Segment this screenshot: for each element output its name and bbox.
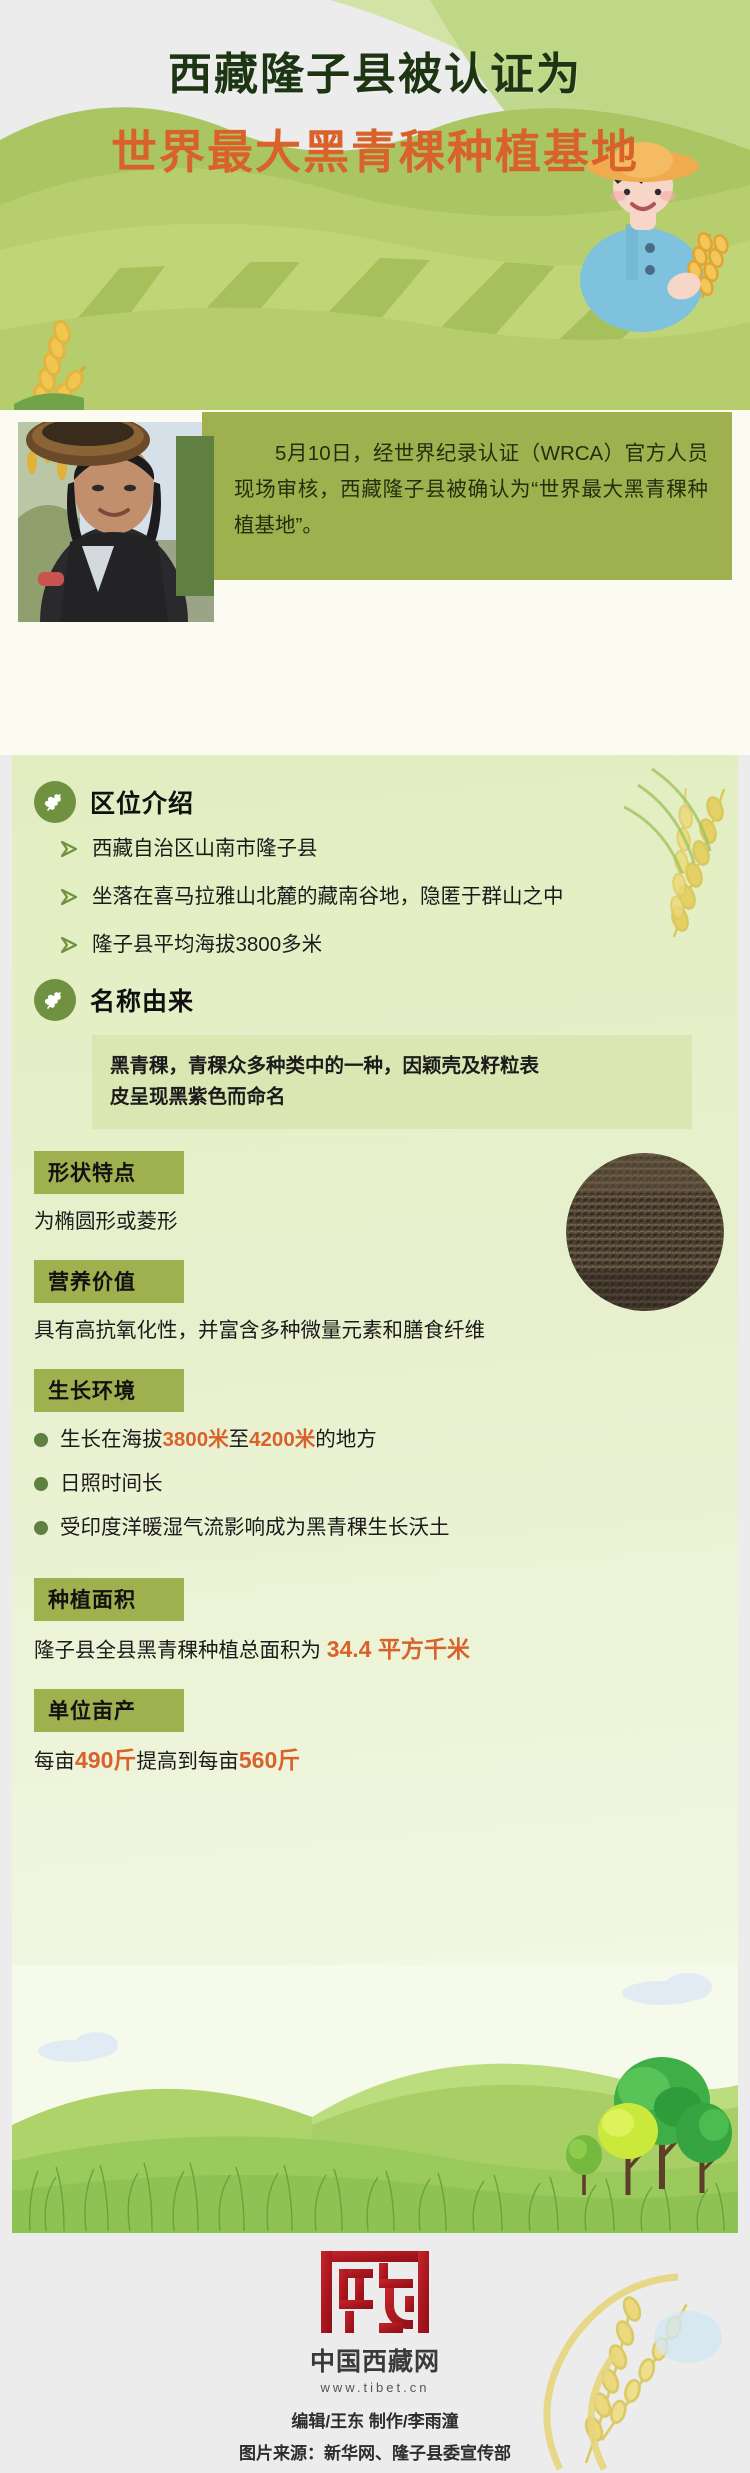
hero-title-group: 西藏隆子县被认证为 世界最大黑青稞种植基地 [0,38,750,182]
lead-paragraph: 5月10日，经世界纪录认证（WRCA）官方人员现场审核，西藏隆子县被确认为“世界… [234,436,708,544]
footer: 中国西藏网 www.tibet.cn 编辑/王东 制作/李雨潼 图片来源：新华网… [0,2233,750,2473]
bullet-dot-icon [34,1433,48,1447]
lead-text-box: 5月10日，经世界纪录认证（WRCA）官方人员现场审核，西藏隆子县被确认为“世界… [202,412,732,580]
list-item-label: 西藏自治区山南市隆子县 [92,833,318,865]
list-item: 坐落在喜马拉雅山北麓的藏南谷地，隐匿于群山之中 [60,881,716,913]
section-yield-text: 每亩490斤提高到每亩560斤 [34,1744,716,1778]
section-naming-header: 名称由来 [34,979,716,1021]
section-nutrition-title: 营养价值 [34,1260,184,1303]
hero-title-line1: 西藏隆子县被认证为 [0,38,750,102]
hero-title-line2: 世界最大黑青稞种植基地 [0,116,750,182]
naming-text: 黑青稞，青稞众多种类中的一种，因颖壳及籽粒表皮呈现黑紫色而命名 [110,1051,550,1113]
naming-text-box: 黑青稞，青稞众多种类中的一种，因颖壳及籽粒表皮呈现黑紫色而命名 [92,1035,692,1129]
chevron-right-icon [60,888,80,911]
barley-grain-photo [566,1153,724,1311]
section-area-title: 种植面积 [34,1578,184,1621]
list-item-label: 坐落在喜马拉雅山北麓的藏南谷地，隐匿于群山之中 [92,881,564,913]
hero-banner: 西藏隆子县被认证为 世界最大黑青稞种植基地 [0,0,750,410]
yield-from: 490斤 [75,1747,136,1773]
china-tibet-net-logo-icon [319,2249,431,2335]
bottom-scene-illustration [12,1965,738,2233]
chevron-right-icon [60,936,80,959]
list-item: 受印度洋暖湿气流影响成为黑青稞生长沃土 [34,1512,716,1544]
section-naming-title: 名称由来 [90,982,194,1018]
list-item: 日照时间长 [34,1468,716,1500]
list-item-label: 生长在海拔3800米至4200米的地方 [60,1424,377,1456]
section-environment-title: 生长环境 [34,1369,184,1412]
section-location-title: 区位介绍 [90,784,194,820]
environment-list: 生长在海拔3800米至4200米的地方 日照时间长 受印度洋暖湿气流影响成为黑青… [34,1424,716,1544]
list-item-label: 日照时间长 [60,1468,163,1500]
wheat-badge-icon [34,979,76,1021]
list-item: 西藏自治区山南市隆子县 [60,833,716,865]
bullet-dot-icon [34,1477,48,1491]
wheat-badge-icon [34,781,76,823]
section-location-header: 区位介绍 [34,781,716,823]
list-item: 隆子县平均海拔3800多米 [60,929,716,961]
list-item: 生长在海拔3800米至4200米的地方 [34,1424,716,1456]
section-yield-title: 单位亩产 [34,1689,184,1732]
chevron-right-icon [60,840,80,863]
lead-section: 5月10日，经世界纪录认证（WRCA）官方人员现场审核，西藏隆子县被确认为“世界… [0,410,750,755]
wheat-decoration-icon [520,2233,750,2473]
list-item-label: 隆子县平均海拔3800多米 [92,929,322,961]
yield-to: 560斤 [239,1747,300,1773]
lead-accent-bar [176,436,214,596]
list-item-label: 受印度洋暖湿气流影响成为黑青稞生长沃土 [60,1512,450,1544]
section-nutrition-text: 具有高抗氧化性，并富含多种微量元素和膳食纤维 [34,1315,716,1347]
section-shape-title: 形状特点 [34,1151,184,1194]
area-value: 34.4 平方千米 [327,1636,470,1662]
location-bullet-list: 西藏自治区山南市隆子县 坐落在喜马拉雅山北麓的藏南谷地，隐匿于群山之中 隆子县平… [60,833,716,961]
section-area-text: 隆子县全县黑青稞种植总面积为 34.4 平方千米 [34,1633,716,1667]
content-panel: 区位介绍 西藏自治区山南市隆子县 坐落在喜马拉雅山北麓的藏南谷地，隐匿于群山之中… [12,755,738,1965]
bullet-dot-icon [34,1521,48,1535]
